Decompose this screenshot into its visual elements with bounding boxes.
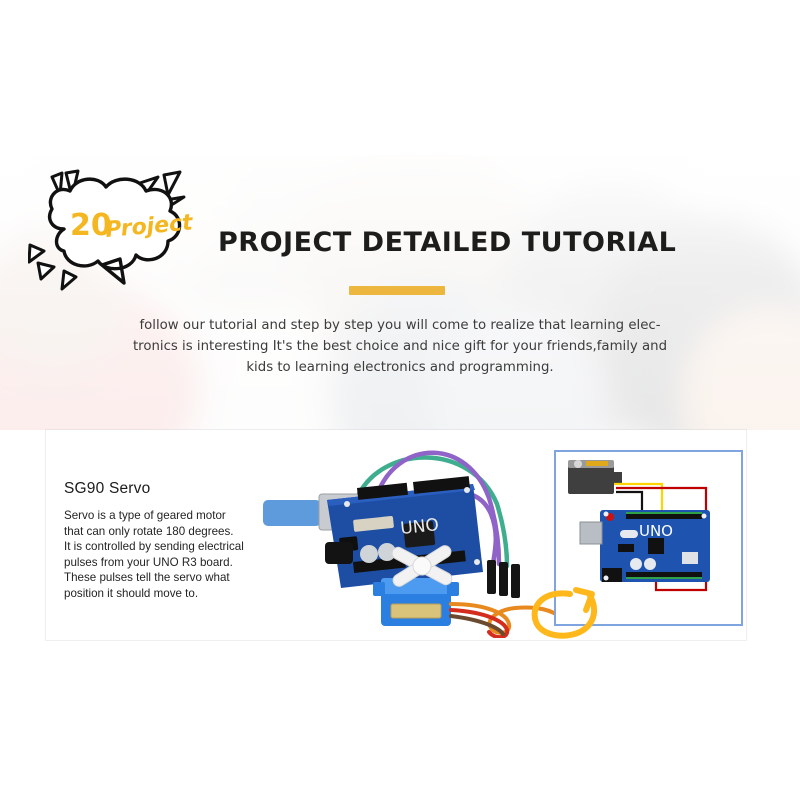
diagram-board-label: UNO	[639, 522, 673, 540]
card-description-line: position it should move to.	[64, 586, 294, 602]
tutorial-page: 20 Project PROJECT DETAILED TUTORIAL fol…	[0, 0, 800, 800]
hero-subtitle-line-1: follow our tutorial and step by step you…	[120, 315, 680, 336]
card-description-line: It is controlled by sending electrical	[64, 539, 294, 555]
highlight-arrow-icon	[516, 580, 631, 642]
hero-subtitle: follow our tutorial and step by step you…	[120, 315, 680, 378]
page-title: PROJECT DETAILED TUTORIAL	[218, 227, 676, 258]
card-description-line: that can only rotate 180 degrees.	[64, 524, 294, 540]
card-description-line: Servo is a type of geared motor	[64, 508, 294, 524]
hero-banner: 20 Project PROJECT DETAILED TUTORIAL fol…	[0, 155, 800, 430]
title-underline-accent	[349, 286, 445, 295]
project-badge: 20 Project	[28, 167, 213, 292]
hero-subtitle-line-2: tronics is interesting It's the best cho…	[120, 336, 680, 357]
card-description: Servo is a type of geared motor that can…	[64, 508, 294, 602]
card-title: SG90 Servo	[64, 480, 150, 498]
servo-info-card: SG90 Servo Servo is a type of geared mot…	[46, 430, 746, 640]
board-label: UNO	[399, 515, 439, 539]
diagram-servo-icon	[568, 460, 622, 494]
card-description-line: pulses from your UNO R3 board.	[64, 555, 294, 571]
hero-subtitle-line-3: kids to learning electronics and program…	[120, 357, 680, 378]
card-description-line: These pulses tell the servo what	[64, 570, 294, 586]
